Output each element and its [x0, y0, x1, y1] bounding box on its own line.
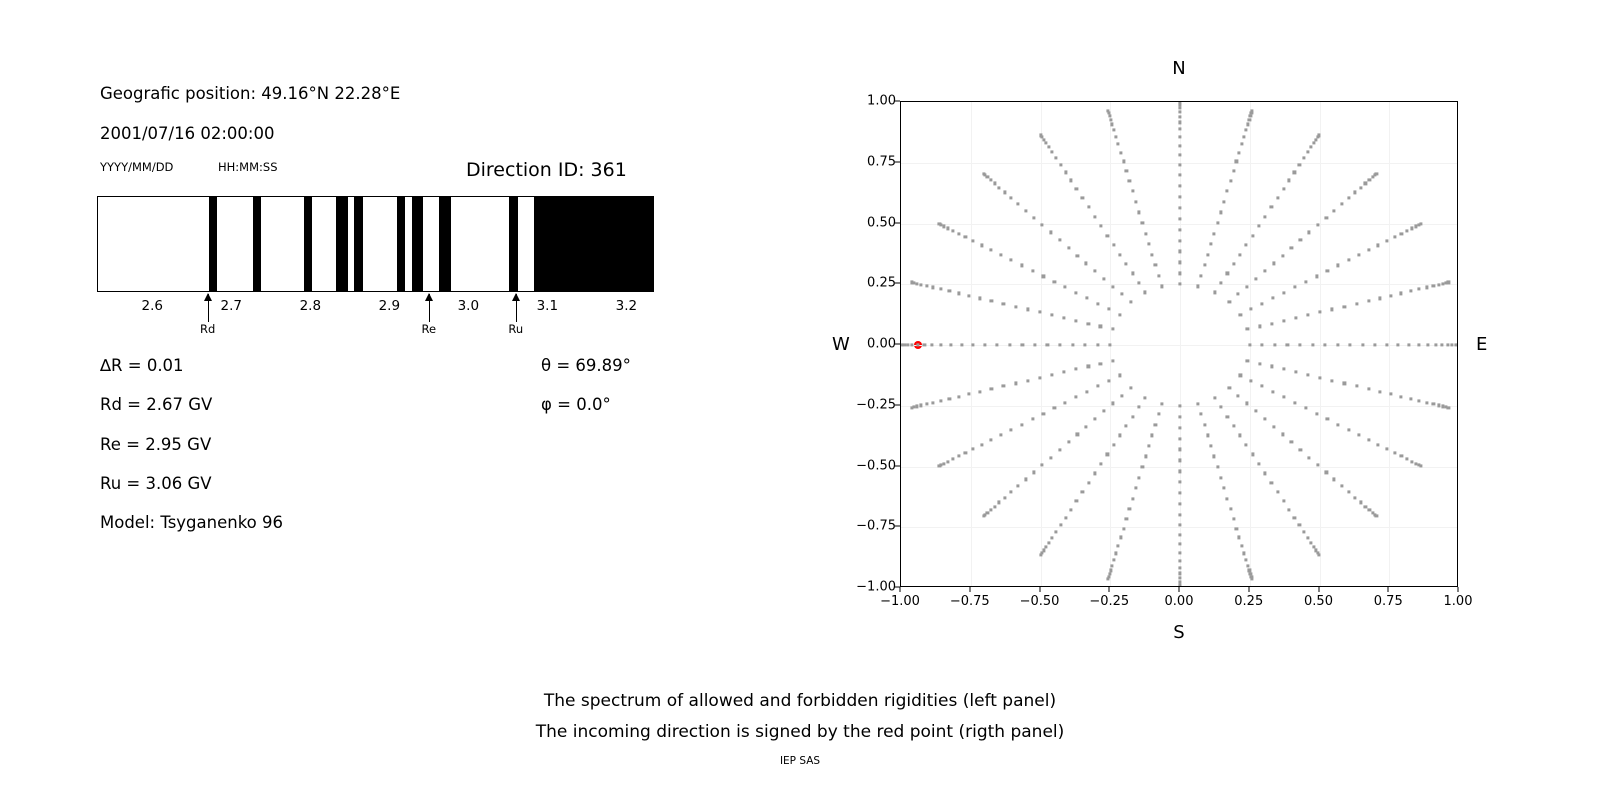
scatter-point: [1272, 262, 1275, 265]
scatter-point: [1094, 417, 1097, 420]
scatter-point: [1128, 179, 1131, 182]
scatter-point: [1393, 236, 1396, 239]
scatter-point: [1178, 566, 1181, 569]
scatter-point: [1239, 313, 1242, 316]
scatter-point: [1178, 559, 1181, 562]
scatter-point: [1109, 118, 1112, 121]
scatter-point: [1134, 200, 1137, 203]
scatter-point: [1209, 444, 1212, 447]
scatter-point: [1333, 478, 1336, 481]
scatter-point: [1141, 221, 1144, 224]
rigidity-tick-label: 2.9: [379, 298, 400, 314]
scatter-point: [1385, 343, 1388, 346]
scatter-point: [1432, 403, 1435, 406]
scatter-point: [1437, 283, 1440, 286]
x-tick-label: 0.25: [1234, 594, 1263, 609]
scatter-point: [1196, 402, 1199, 405]
scatter-point: [1076, 254, 1079, 257]
compass-east-label: E: [1476, 334, 1487, 355]
scatter-point: [1064, 286, 1067, 289]
scatter-point: [1216, 465, 1219, 468]
scatter-point: [1010, 196, 1013, 199]
scatter-point: [920, 404, 923, 407]
scatter-point: [972, 447, 975, 450]
scatter-point: [948, 290, 951, 293]
scatter-point: [1178, 106, 1181, 109]
scatter-point: [1119, 536, 1122, 539]
scatter-point: [1374, 343, 1377, 346]
scatter-point: [1261, 302, 1264, 305]
scatter-point: [1375, 172, 1378, 175]
scatter-point: [1125, 518, 1128, 521]
scatter-point: [1119, 151, 1122, 154]
scatter-point: [1178, 514, 1181, 517]
scatter-point: [989, 508, 992, 511]
scatter-point: [1206, 253, 1209, 256]
scatter-point: [939, 399, 942, 402]
y-tick-label: −0.25: [856, 397, 896, 412]
scatter-point: [1270, 206, 1273, 209]
scatter-point: [1282, 319, 1285, 322]
scatter-point: [1200, 413, 1203, 416]
scatter-point: [1058, 239, 1061, 242]
scatter-point: [1226, 190, 1229, 193]
scatter-point: [1026, 379, 1029, 382]
scatter-point: [1144, 291, 1147, 294]
scatter-point: [901, 343, 904, 346]
scatter-point: [1071, 343, 1074, 346]
scatter-point: [1400, 455, 1403, 458]
scatter-point: [1271, 390, 1274, 393]
gridline-horizontal: [901, 224, 1457, 225]
scatter-point: [1178, 577, 1181, 580]
scatter-point: [983, 343, 986, 346]
scatter-point: [1067, 440, 1070, 443]
scatter-point: [1250, 379, 1253, 382]
marker-arrow-rd: [208, 294, 209, 322]
scatter-point: [1385, 239, 1388, 242]
scatter-point: [1039, 553, 1042, 556]
scatter-point: [1209, 242, 1212, 245]
scatter-point: [1040, 223, 1043, 226]
forbidden-band: [336, 197, 348, 291]
scatter-point: [1178, 110, 1181, 113]
rigidity-spectrum-bar: [97, 196, 654, 292]
scatter-point: [1200, 274, 1203, 277]
scatter-point: [1014, 305, 1017, 308]
scatter-point: [1178, 173, 1181, 176]
scatter-point: [1407, 343, 1410, 346]
scatter-point: [1246, 359, 1249, 362]
scatter-point: [920, 283, 923, 286]
scatter-point: [1031, 269, 1034, 272]
scatter-point: [1050, 314, 1053, 317]
scatter-point: [998, 501, 1001, 504]
scatter-point: [1319, 311, 1322, 314]
scatter-point: [1112, 443, 1115, 446]
scatter-point: [999, 253, 1002, 256]
scatter-point: [1178, 415, 1181, 418]
scatter-point: [1081, 196, 1084, 199]
scatter-point: [1425, 401, 1428, 404]
scatter-point: [1222, 487, 1225, 490]
marker-label-re: Re: [422, 322, 437, 336]
scatter-point: [1245, 243, 1248, 246]
scatter-point: [1178, 195, 1181, 198]
scatter-point: [1228, 300, 1231, 303]
scatter-point: [1108, 114, 1111, 117]
scatter-point: [1131, 497, 1134, 500]
scatter-point: [1075, 396, 1078, 399]
forbidden-band: [534, 197, 654, 291]
forbidden-band: [439, 197, 451, 291]
scatter-point: [1220, 281, 1223, 284]
scatter-point: [1144, 455, 1147, 458]
scatter-point: [1331, 308, 1334, 311]
scatter-point: [1270, 322, 1273, 325]
marker-arrow-ru: [516, 294, 517, 322]
scatter-point: [932, 401, 935, 404]
scatter-point: [1340, 484, 1343, 487]
scatter-point: [1238, 253, 1241, 256]
scatter-point: [1367, 299, 1370, 302]
x-tick-label: 0.00: [1165, 594, 1194, 609]
scatter-point: [1111, 564, 1114, 567]
x-tick-mark: [969, 587, 970, 592]
marker-label-ru: Ru: [508, 322, 523, 336]
scatter-point: [1434, 343, 1437, 346]
direction-id-text: Direction ID: 361: [466, 159, 627, 181]
x-tick-mark: [1388, 587, 1389, 592]
scatter-point: [1064, 516, 1067, 519]
scatter-point: [1229, 508, 1232, 511]
scatter-point: [1178, 239, 1181, 242]
scatter-point: [1118, 434, 1121, 437]
scatter-point: [1106, 110, 1109, 113]
scatter-point: [1112, 243, 1115, 246]
forbidden-band: [304, 197, 312, 291]
scatter-point: [1203, 264, 1206, 267]
scatter-point: [1359, 186, 1362, 189]
gridline-vertical: [1320, 102, 1321, 586]
y-tick-label: 0.50: [867, 215, 896, 230]
scatter-point: [1447, 406, 1450, 409]
scatter-point: [1063, 370, 1066, 373]
scatter-point: [910, 281, 913, 284]
scatter-point: [1107, 308, 1110, 311]
scatter-point: [1257, 225, 1260, 228]
scatter-point: [1017, 203, 1020, 206]
scatter-point: [1304, 407, 1307, 410]
scatter-point: [1235, 160, 1238, 163]
scatter-point: [1367, 438, 1370, 441]
scatter-point: [1263, 270, 1266, 273]
gridline-vertical: [1389, 102, 1390, 586]
x-tick-label: −0.75: [950, 594, 990, 609]
scatter-point: [1178, 121, 1181, 124]
scatter-point: [1002, 302, 1005, 305]
scatter-point: [1144, 232, 1147, 235]
scatter-point: [1361, 343, 1364, 346]
rigidity-tick-label: 3.0: [458, 298, 479, 314]
scatter-point: [1354, 496, 1357, 499]
scatter-point: [1085, 297, 1088, 300]
scatter-point: [940, 343, 943, 346]
scatter-point: [1358, 253, 1361, 256]
scatter-point: [1154, 264, 1157, 267]
marker-label-rd: Rd: [200, 322, 215, 336]
scatter-point: [1112, 128, 1115, 131]
scatter-point: [1069, 508, 1072, 511]
scatter-point: [1151, 253, 1154, 256]
scatter-point: [938, 464, 941, 467]
scatter-point: [1419, 222, 1422, 225]
scatter-point: [1046, 343, 1049, 346]
caption-line-2: The incoming direction is signed by the …: [0, 717, 1600, 748]
scatter-point: [964, 236, 967, 239]
y-tick-mark: [895, 344, 900, 345]
time-format-hint: HH:MM:SS: [218, 160, 278, 174]
scatter-point: [1239, 374, 1242, 377]
scatter-point: [1385, 447, 1388, 450]
scatter-point: [1240, 142, 1243, 145]
scatter-point: [1364, 505, 1367, 508]
scatter-point: [1282, 368, 1285, 371]
rigidity-axis: 2.62.72.82.93.03.13.2RdReRu: [97, 292, 654, 352]
footer-credit: IEP SAS: [0, 755, 1600, 767]
scatter-point: [1399, 292, 1402, 295]
scatter-point: [1122, 160, 1125, 163]
scatter-point: [1178, 283, 1181, 286]
scatter-point: [1118, 253, 1121, 256]
scatter-point: [1107, 379, 1110, 382]
scatter-point: [1122, 527, 1125, 530]
scatter-point: [1003, 496, 1006, 499]
scatter-point: [1326, 418, 1329, 421]
forbidden-band: [209, 197, 217, 291]
scatter-point: [951, 229, 954, 232]
scatter-point: [1331, 379, 1334, 382]
x-tick-label: 0.50: [1304, 594, 1333, 609]
scatter-point: [982, 172, 985, 175]
angle-text: φ = 0.0°: [541, 395, 611, 414]
scatter-point: [1308, 456, 1311, 459]
scatter-point: [1044, 141, 1047, 144]
scatter-point: [1219, 211, 1222, 214]
scatter-point: [1064, 401, 1067, 404]
marker-arrow-re: [429, 294, 430, 322]
scatter-point: [1178, 572, 1181, 575]
scatter-point: [1261, 385, 1264, 388]
scatter-point: [1131, 272, 1134, 275]
scatter-point: [1315, 412, 1318, 415]
scatter-point: [1114, 135, 1117, 138]
scatter-point: [1287, 508, 1290, 511]
scatter-point: [993, 182, 996, 185]
scatter-point: [989, 178, 992, 181]
scatter-point: [1128, 508, 1131, 511]
gridline-horizontal: [901, 527, 1457, 528]
scatter-point: [1058, 448, 1061, 451]
scatter-point: [993, 505, 996, 508]
scatter-point: [1406, 458, 1409, 461]
rigidity-tick-label: 3.2: [616, 298, 637, 314]
scatter-point: [1118, 374, 1121, 377]
scatter-point: [1389, 393, 1392, 396]
scatter-point: [1251, 234, 1254, 237]
parameter-text: Re = 2.95 GV: [100, 435, 211, 454]
scatter-point: [1157, 413, 1160, 416]
scatter-point: [1160, 402, 1163, 405]
scatter-point: [1085, 390, 1088, 393]
scatter-point: [989, 248, 992, 251]
scatter-point: [1111, 285, 1114, 288]
scatter-point: [1293, 401, 1296, 404]
scatter-point: [1111, 328, 1114, 331]
scatter-point: [1294, 370, 1297, 373]
scatter-point: [946, 460, 949, 463]
x-tick-label: −1.00: [880, 594, 920, 609]
scatter-point: [915, 282, 918, 285]
scatter-point: [1118, 313, 1121, 316]
scatter-point: [1085, 262, 1088, 265]
scatter-point: [1069, 179, 1072, 182]
scatter-point: [1002, 385, 1005, 388]
scatter-point: [923, 343, 926, 346]
scatter-point: [1293, 516, 1296, 519]
scatter-point: [1144, 396, 1147, 399]
scatter-point: [1213, 232, 1216, 235]
scatter-point: [1238, 536, 1241, 539]
scatter-point: [960, 343, 963, 346]
scatter-point: [968, 294, 971, 297]
scatter-point: [1308, 231, 1311, 234]
scatter-point: [1237, 394, 1240, 397]
y-tick-mark: [895, 404, 900, 405]
scatter-point: [1306, 536, 1309, 539]
scatter-point: [1240, 544, 1243, 547]
scatter-point: [1293, 171, 1296, 174]
scatter-point: [1317, 223, 1320, 226]
scatter-point: [1157, 274, 1160, 277]
scatter-point: [1112, 558, 1115, 561]
scatter-point: [1437, 404, 1440, 407]
angle-text: θ = 69.89°: [541, 356, 631, 375]
scatter-point: [1226, 272, 1229, 275]
scatter-point: [1220, 405, 1223, 408]
scatter-point: [1151, 434, 1154, 437]
x-tick-mark: [1248, 587, 1249, 592]
scatter-point: [957, 232, 960, 235]
forbidden-band: [354, 197, 363, 291]
scatter-point: [1100, 462, 1103, 465]
scatter-point: [1178, 217, 1181, 220]
scatter-point: [1245, 443, 1248, 446]
scatter-point: [1261, 343, 1264, 346]
scatter-point: [1178, 503, 1181, 506]
scatter-point: [1216, 221, 1219, 224]
scatter-point: [980, 244, 983, 247]
compass-north-label: N: [1172, 58, 1185, 79]
scatter-point: [1264, 472, 1267, 475]
scatter-point: [1021, 343, 1024, 346]
scatter-point: [1348, 428, 1351, 431]
scatter-point: [1306, 373, 1309, 376]
scatter-point: [1258, 362, 1261, 365]
scatter-point: [1032, 471, 1035, 474]
scatter-point: [1406, 229, 1409, 232]
scatter-point: [1100, 225, 1103, 228]
scatter-point: [1336, 343, 1339, 346]
scatter-point: [990, 387, 993, 390]
scatter-point: [1081, 491, 1084, 494]
scatter-point: [1229, 179, 1232, 182]
y-tick-label: 0.00: [867, 337, 896, 352]
scatter-point: [1020, 423, 1023, 426]
scatter-point: [1245, 128, 1248, 131]
scatter-point: [971, 343, 974, 346]
scatter-point: [1125, 424, 1128, 427]
scatter-point: [1367, 387, 1370, 390]
scatter-point: [1273, 343, 1276, 346]
scatter-point: [1290, 440, 1293, 443]
caption-line-1: The spectrum of allowed and forbidden ri…: [0, 686, 1600, 717]
parameter-text: Model: Tsyganenko 96: [100, 513, 283, 532]
scatter-point: [1232, 169, 1235, 172]
scatter-point: [1178, 426, 1181, 429]
scatter-point: [906, 343, 909, 346]
scatter-point: [999, 434, 1002, 437]
scatter-point: [1051, 151, 1054, 154]
forbidden-band: [412, 197, 423, 291]
scatter-point: [1178, 261, 1181, 264]
y-tick-label: 0.25: [867, 276, 896, 291]
scatter-point: [1248, 569, 1251, 572]
scatter-point: [915, 405, 918, 408]
scatter-point: [1125, 262, 1128, 265]
scatter-point: [1419, 464, 1422, 467]
scatter-point: [1055, 157, 1058, 160]
scatter-point: [998, 186, 1001, 189]
scatter-point: [1178, 228, 1181, 231]
scatter-point: [1102, 410, 1105, 413]
scatter-point: [1281, 433, 1284, 436]
scatter-point: [1245, 285, 1248, 288]
scatter-point: [1010, 490, 1013, 493]
scatter-point: [1337, 423, 1340, 426]
y-tick-mark: [895, 222, 900, 223]
scatter-point: [1276, 196, 1279, 199]
scatter-point: [1377, 443, 1380, 446]
scatter-point: [1055, 530, 1058, 533]
scatter-point: [1389, 294, 1392, 297]
x-tick-mark: [1318, 587, 1319, 592]
scatter-point: [1349, 343, 1352, 346]
direction-scatter-plot: [900, 101, 1458, 587]
scatter-point: [943, 462, 946, 465]
scatter-point: [1276, 491, 1279, 494]
scatter-point: [1367, 248, 1370, 251]
scatter-point: [1326, 269, 1329, 272]
scatter-point: [1042, 275, 1045, 278]
scatter-point: [1378, 297, 1381, 300]
parameter-text: Ru = 3.06 GV: [100, 474, 212, 493]
scatter-point: [1409, 397, 1412, 400]
scatter-point: [1325, 216, 1328, 219]
scatter-point: [1315, 275, 1318, 278]
scatter-point: [964, 451, 967, 454]
scatter-point: [1282, 500, 1285, 503]
